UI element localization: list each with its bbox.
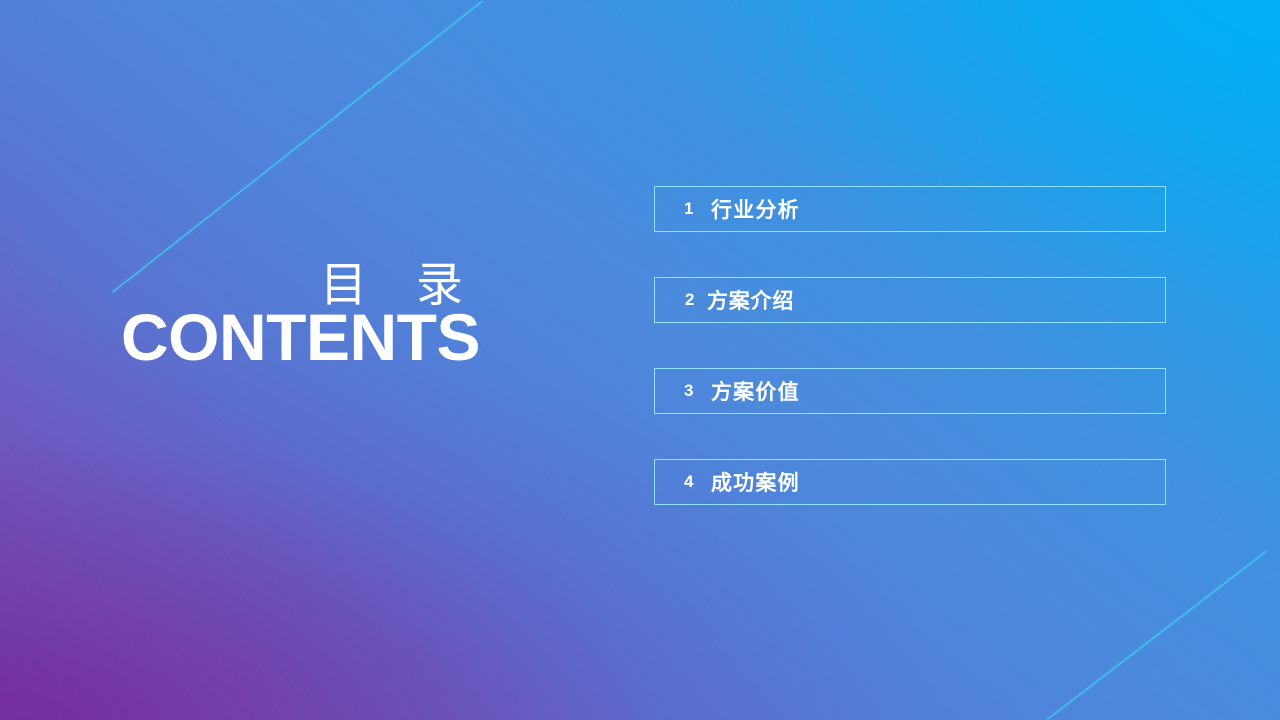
toc-item-label: 行业分析 xyxy=(711,194,800,224)
toc-item-3[interactable]: 3 方案价值 xyxy=(654,368,1166,414)
toc-item-number: 4 xyxy=(684,472,694,492)
toc-item-number: 2 xyxy=(685,290,695,310)
page-title-english: CONTENTS xyxy=(0,305,482,370)
toc-item-label: 方案价值 xyxy=(711,376,800,406)
toc-item-2[interactable]: 2 方案介绍 xyxy=(654,277,1166,323)
table-of-contents-list: 1 行业分析 2 方案介绍 3 方案价值 4 成功案例 xyxy=(654,186,1166,505)
toc-item-label: 方案介绍 xyxy=(707,285,794,315)
toc-item-label: 成功案例 xyxy=(711,467,800,497)
slide-title-block: 目 录 CONTENTS xyxy=(0,262,482,370)
presentation-slide: 目 录 CONTENTS 1 行业分析 2 方案介绍 3 方案价值 4 成功案例 xyxy=(0,0,1280,720)
toc-item-number: 1 xyxy=(684,199,694,219)
toc-item-number: 3 xyxy=(684,381,694,401)
toc-item-1[interactable]: 1 行业分析 xyxy=(654,186,1166,232)
toc-item-4[interactable]: 4 成功案例 xyxy=(654,459,1166,505)
